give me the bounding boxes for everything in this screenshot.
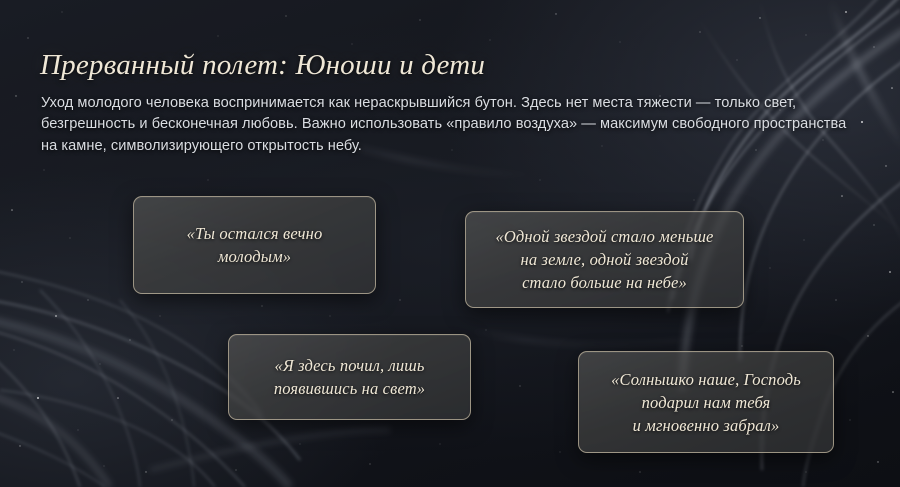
quote-text: «Ты остался вечно молодым» [175,222,335,268]
quote-card[interactable]: «Ты остался вечно молодым» [133,196,376,294]
quote-card[interactable]: «Солнышко наше, Господь подарил нам тебя… [578,351,834,453]
quote-text: «Одной звездой стало меньше на земле, од… [483,225,725,294]
slide-root: Прерванный полет: Юноши и дети Уход моло… [0,0,900,487]
intro-paragraph: Уход молодого человека воспринимается ка… [41,93,847,158]
quote-card[interactable]: «Одной звездой стало меньше на земле, од… [465,211,744,308]
quote-text: «Солнышко наше, Господь подарил нам тебя… [599,368,813,437]
quote-card[interactable]: «Я здесь почил, лишь появившись на свет» [228,334,471,420]
page-title: Прерванный полет: Юноши и дети [40,48,485,82]
quote-text: «Я здесь почил, лишь появившись на свет» [262,354,437,400]
